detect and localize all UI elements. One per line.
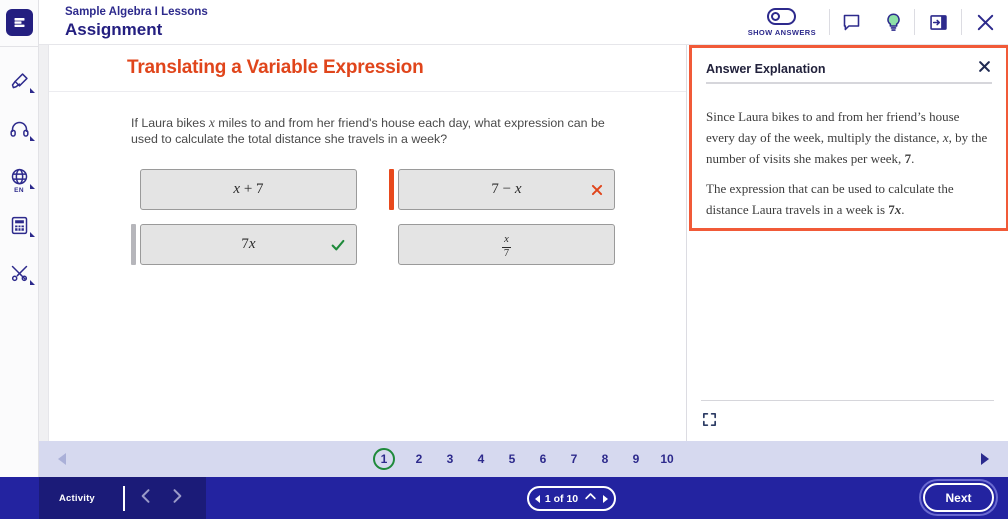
correct-check-icon [330, 237, 346, 253]
panel-body: Since Laura bikes to and from her friend… [706, 106, 990, 229]
pager-prev-button[interactable] [39, 453, 85, 465]
assessment-player: EN [0, 0, 1008, 519]
answer-explanation-panel: Answer Explanation Since Laura bikes to … [686, 45, 1008, 441]
sidebar-item-calculator[interactable] [0, 201, 39, 249]
choice-button[interactable]: x + 7 [140, 169, 357, 210]
page-number-6[interactable]: 6 [536, 452, 550, 466]
chevron-up-icon[interactable] [583, 489, 598, 509]
triangle-left-icon[interactable] [535, 495, 540, 503]
choice-label: x 7 [502, 230, 511, 259]
question-title: Translating a Variable Expression [127, 57, 423, 79]
close-icon [977, 59, 992, 79]
question-prompt: If Laura bikes x miles to and from her f… [131, 115, 626, 147]
toggle-knob [771, 12, 780, 21]
show-answers-label: SHOW ANSWERS [748, 28, 816, 37]
panel-footer-divider [701, 400, 994, 401]
page-number-3[interactable]: 3 [443, 452, 457, 466]
fraction-denominator: 7 [502, 249, 511, 260]
page-number-4[interactable]: 4 [474, 452, 488, 466]
panel-toggle-icon [928, 12, 949, 33]
comment-icon [841, 12, 862, 33]
hint-button[interactable] [872, 0, 914, 45]
page-number-10[interactable]: 10 [660, 452, 674, 466]
choice-button[interactable]: x 7 [398, 224, 615, 265]
next-button-label: Next [945, 491, 971, 505]
activity-prev-button[interactable] [131, 477, 162, 519]
chevron-expand-icon [30, 88, 35, 93]
bottom-bar-divider [123, 486, 125, 511]
question-title-row: Translating a Variable Expression [49, 45, 686, 92]
chevron-right-icon [167, 486, 187, 511]
progress-label: 1 of 10 [545, 493, 578, 505]
rail-divider [0, 46, 39, 47]
explanation-text: . [911, 151, 914, 166]
explanation-paragraph-2: The expression that can be used to calcu… [706, 178, 990, 220]
sidebar-item-audio[interactable] [0, 105, 39, 153]
triangle-right-icon [981, 453, 989, 465]
question-stage: Translating a Variable Expression If Lau… [39, 45, 686, 441]
choice-status-bar [389, 224, 394, 265]
answer-choice-d[interactable]: x 7 [389, 224, 615, 265]
explanation-answer: 7x [888, 202, 901, 217]
panel-close-button[interactable] [977, 59, 992, 79]
page-number-9[interactable]: 9 [629, 452, 643, 466]
page-number-5[interactable]: 5 [505, 452, 519, 466]
breadcrumb: Sample Algebra I Lessons [65, 4, 208, 20]
expand-fullscreen-icon [701, 411, 718, 433]
page-number-list: 1 2 3 4 5 6 7 8 9 10 [85, 448, 962, 470]
show-answers-toggle[interactable]: SHOW ANSWERS [735, 8, 829, 37]
panel-expand-button[interactable] [701, 411, 718, 433]
comment-button[interactable] [830, 0, 872, 45]
toggle-switch-icon [767, 8, 796, 25]
explanation-text: Since Laura bikes to and from her friend… [706, 109, 959, 145]
calculator-icon [9, 215, 30, 236]
panel-title: Answer Explanation [706, 62, 825, 76]
globe-icon [9, 167, 30, 188]
page-navigator: 1 2 3 4 5 6 7 8 9 10 [39, 441, 1008, 477]
answer-choice-a[interactable]: x + 7 [131, 169, 357, 210]
explanation-text: The expression that can be used to calcu… [706, 181, 954, 217]
sidebar-item-language[interactable]: EN [0, 153, 39, 201]
choice-status-bar [131, 169, 136, 210]
page-number-2[interactable]: 2 [412, 452, 426, 466]
fraction-numerator: x [502, 235, 511, 246]
activity-nav-group: Activity [39, 477, 206, 519]
header-titles: Sample Algebra I Lessons Assignment [65, 4, 208, 40]
sidebar-item-language-label: EN [14, 187, 24, 194]
chevron-left-icon [136, 486, 156, 511]
explanation-text: . [901, 202, 904, 217]
chevron-expand-icon [30, 136, 35, 141]
answer-choice-c[interactable]: 7x [131, 224, 357, 265]
bottom-bar: Activity [0, 477, 1008, 519]
choice-label: x + 7 [233, 181, 263, 198]
answer-choices: x + 7 7 − x [131, 169, 615, 265]
next-button[interactable]: Next [923, 483, 994, 512]
progress-indicator[interactable]: 1 of 10 [527, 486, 616, 511]
choice-label: 7x [241, 236, 255, 253]
panel-divider [706, 82, 992, 84]
choice-status-bar-correct [131, 224, 136, 265]
sidebar-item-highlighter[interactable] [0, 57, 39, 105]
chevron-expand-icon [30, 232, 35, 237]
panel-header: Answer Explanation [706, 59, 992, 79]
hint-lightbulb-icon [883, 12, 904, 33]
page-number-7[interactable]: 7 [567, 452, 581, 466]
question-card: Translating a Variable Expression If Lau… [48, 45, 686, 441]
pager-next-button[interactable] [962, 453, 1008, 465]
headphones-icon [9, 119, 30, 140]
highlighter-icon [9, 71, 30, 92]
close-icon [974, 11, 997, 34]
explanation-paragraph-1: Since Laura bikes to and from her friend… [706, 106, 990, 169]
chevron-expand-icon [30, 184, 35, 189]
triangle-left-icon [58, 453, 66, 465]
choice-status-bar-incorrect [389, 169, 394, 210]
tool-rail: EN [0, 0, 39, 519]
answer-explanation-highlight: Answer Explanation Since Laura bikes to … [689, 45, 1008, 231]
panel-toggle-button[interactable] [915, 0, 961, 45]
sidebar-item-tools[interactable] [0, 249, 39, 297]
app-logo[interactable] [6, 9, 33, 36]
app-header: Sample Algebra I Lessons Assignment SHOW… [39, 0, 1008, 45]
answer-choice-b[interactable]: 7 − x [389, 169, 615, 210]
page-number-1[interactable]: 1 [373, 448, 395, 470]
close-button[interactable] [962, 0, 1008, 45]
incorrect-cross-icon [590, 183, 604, 197]
page-title: Assignment [65, 20, 208, 40]
choice-button[interactable]: 7 − x [398, 169, 615, 210]
chevron-expand-icon [30, 280, 35, 285]
fraction: x 7 [502, 235, 511, 259]
triangle-right-icon[interactable] [603, 495, 608, 503]
activity-nav [131, 477, 193, 519]
choice-label: 7 − x [491, 181, 521, 198]
activity-next-button[interactable] [162, 477, 193, 519]
page-number-8[interactable]: 8 [598, 452, 612, 466]
prompt-text-before: If Laura bikes [131, 116, 209, 130]
tools-icon [9, 263, 30, 284]
choice-button[interactable]: 7x [140, 224, 357, 265]
header-toolbar: SHOW ANSWERS [735, 0, 1008, 45]
activity-label: Activity [59, 493, 95, 504]
